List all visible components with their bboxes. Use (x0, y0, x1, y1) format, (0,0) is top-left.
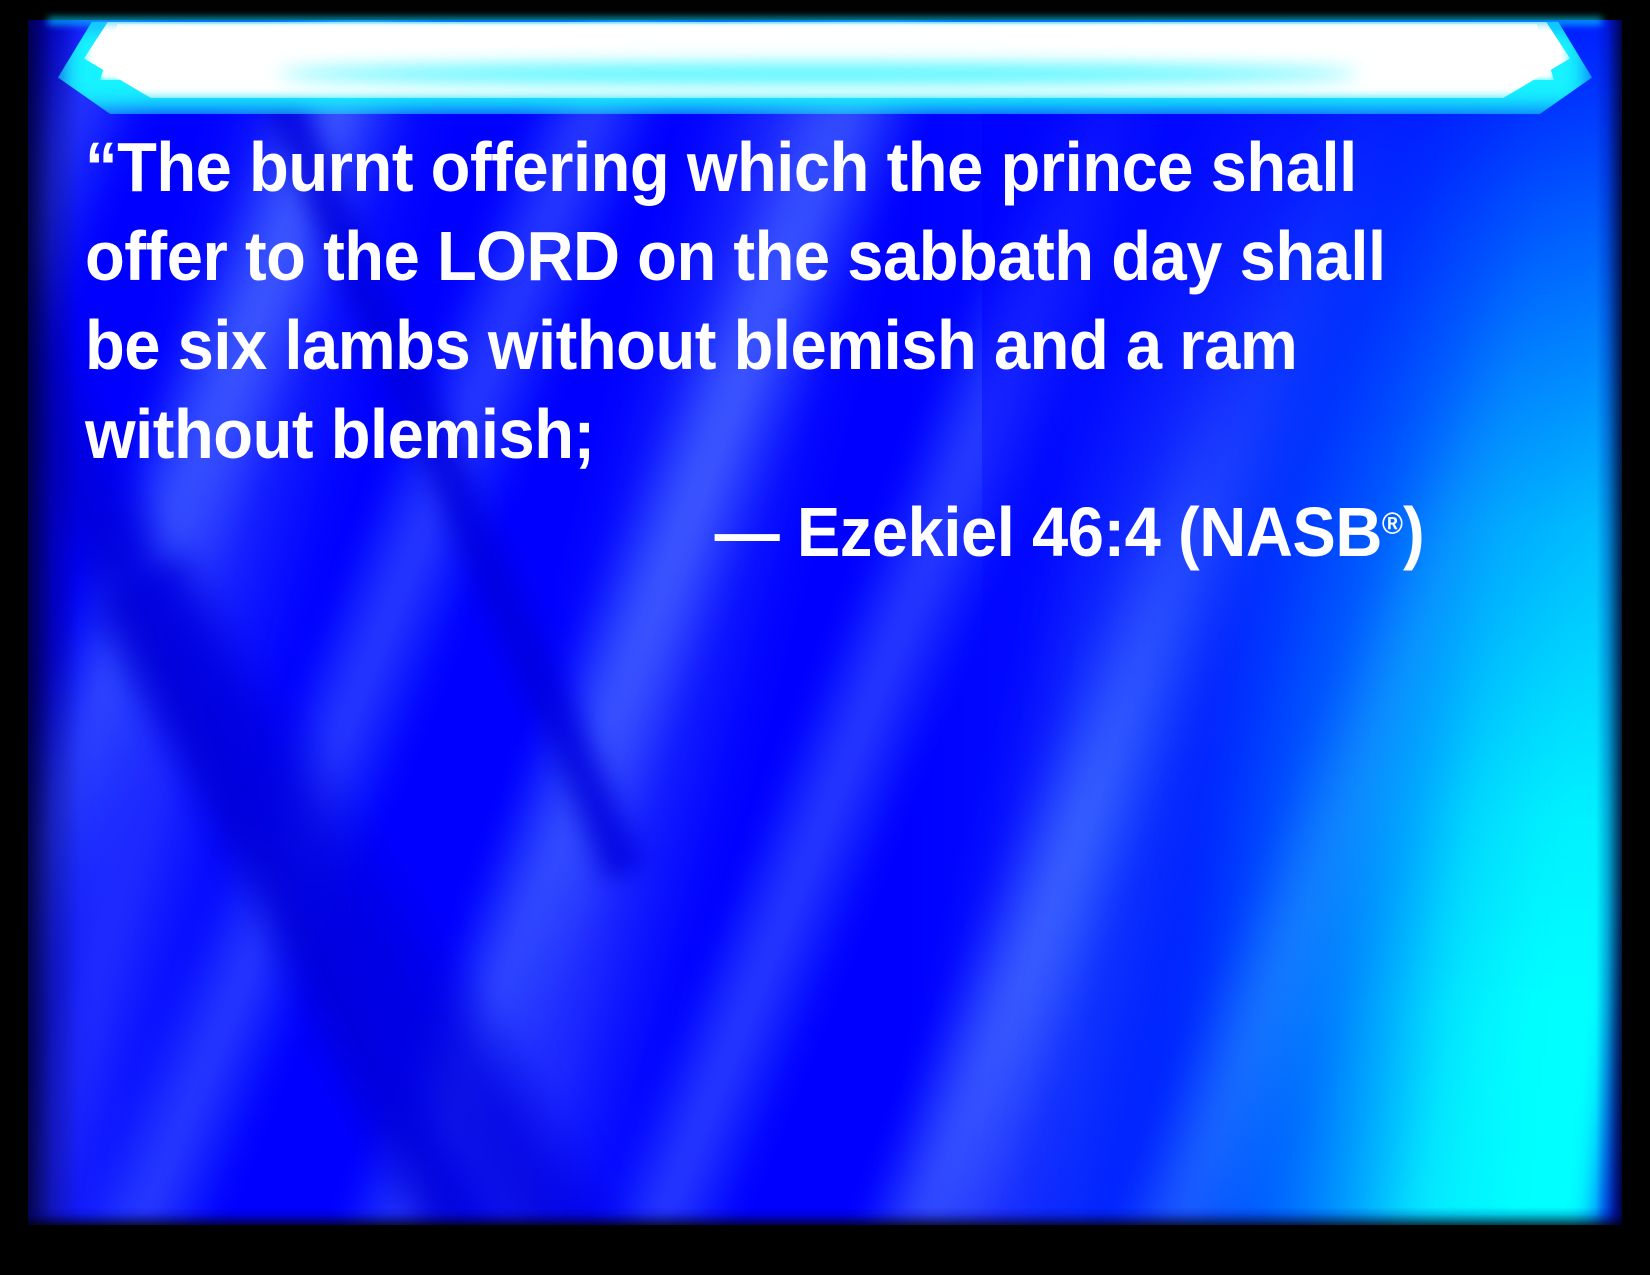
blue-gradient-panel (28, 20, 1622, 1225)
cyan-vertical-fade-mask (982, 20, 1622, 1225)
light-bar-inner-cyan-streak (278, 64, 1358, 84)
panel-right-edge-shadow (1596, 20, 1622, 1225)
scripture-slide: “The burnt offering which the prince sha… (0, 0, 1650, 1275)
top-light-bar (28, 18, 1622, 114)
panel-bottom-edge-shadow (28, 1207, 1622, 1225)
panel-left-edge-shadow (28, 20, 98, 1225)
